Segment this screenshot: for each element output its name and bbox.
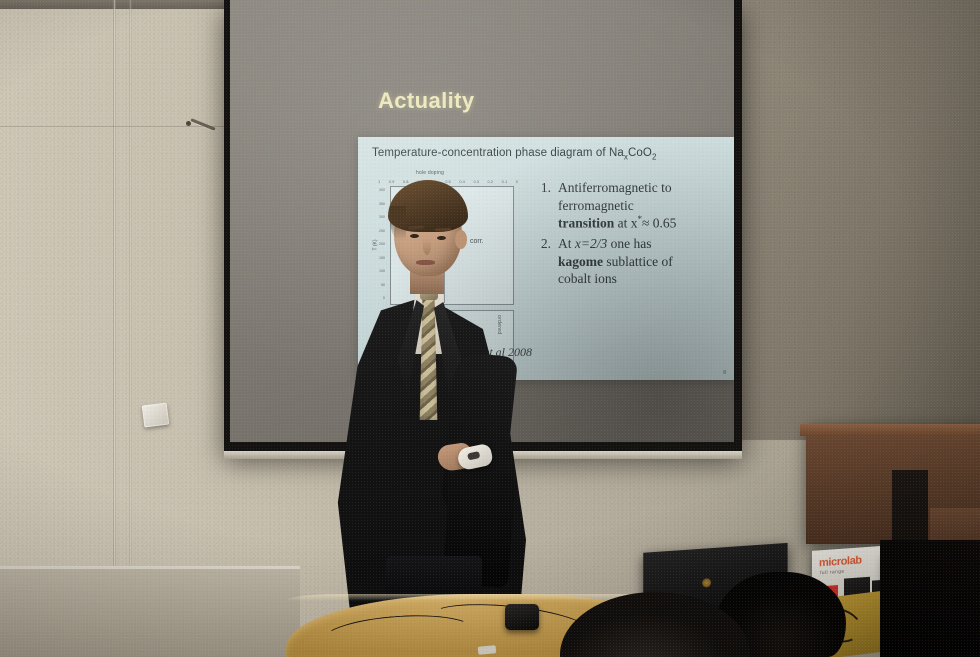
presentation-photo-scene: Actuality Temperature-concentration phas…	[0, 0, 980, 657]
photo-vignette	[0, 0, 980, 657]
